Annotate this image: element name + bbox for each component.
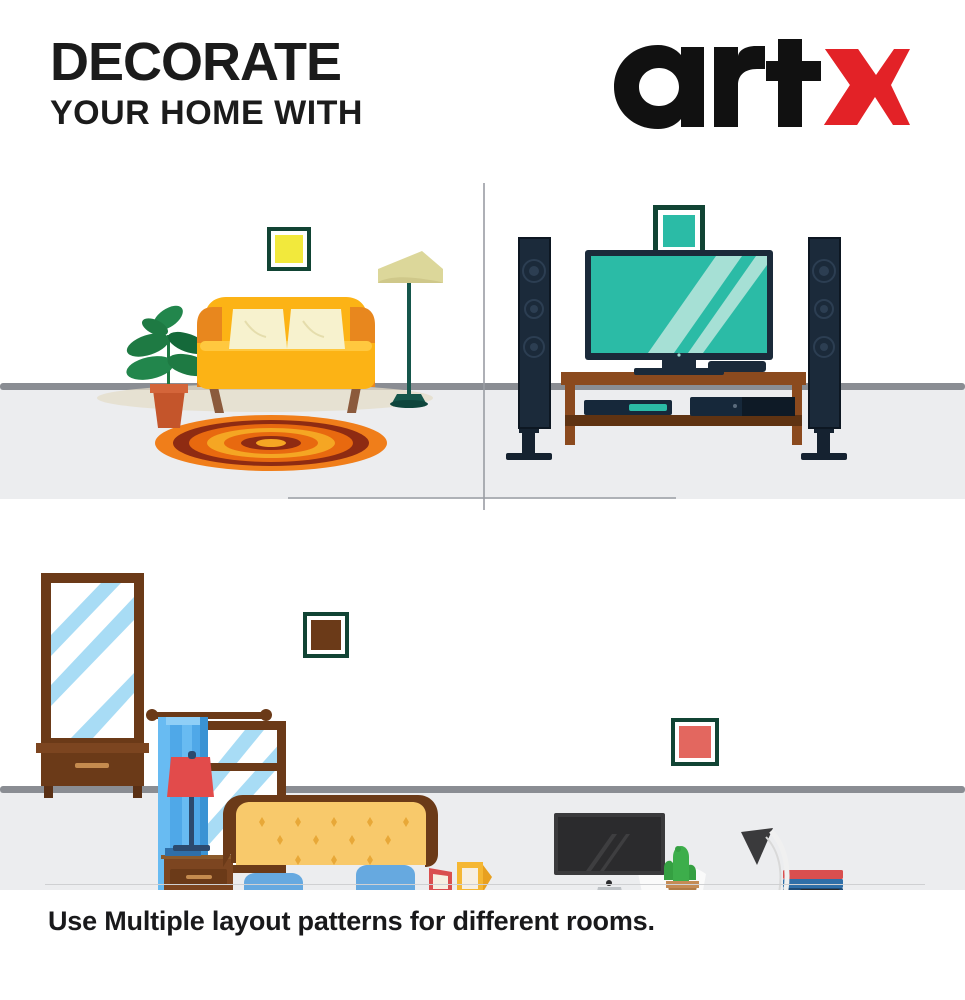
footer-caption: Use Multiple layout patterns for differe… xyxy=(48,906,928,937)
headline-primary: DECORATE xyxy=(50,36,530,89)
standing-mirror xyxy=(36,573,149,798)
artx-logo-mark xyxy=(610,39,910,131)
cream-pillow-right xyxy=(287,309,345,349)
headline-block: DECORATE YOUR HOME WITH xyxy=(50,36,530,134)
room-illustrations xyxy=(0,165,965,890)
cream-pillow-left xyxy=(229,309,287,349)
flat-screen-tv xyxy=(585,250,773,375)
wall-frame-brown-icon xyxy=(303,612,349,658)
scenes-canvas xyxy=(0,165,965,890)
headline-secondary: YOUR HOME WITH xyxy=(50,93,530,134)
media-player xyxy=(584,400,672,415)
round-rug xyxy=(155,415,387,471)
wall-frame-red-icon xyxy=(671,718,719,766)
game-console xyxy=(690,397,795,416)
bottom-row-background xyxy=(0,510,965,890)
wall-frame-teal-icon xyxy=(653,205,705,257)
blue-pillow-right xyxy=(356,865,415,890)
book-stack xyxy=(783,870,843,890)
poster-canvas: DECORATE YOUR HOME WITH xyxy=(0,0,965,1000)
blue-pillow-left xyxy=(244,873,303,890)
footer-divider xyxy=(45,884,925,885)
wall-frame-yellow-icon xyxy=(267,227,311,271)
tufted-headboard xyxy=(236,802,426,865)
artx-logo xyxy=(610,40,910,130)
